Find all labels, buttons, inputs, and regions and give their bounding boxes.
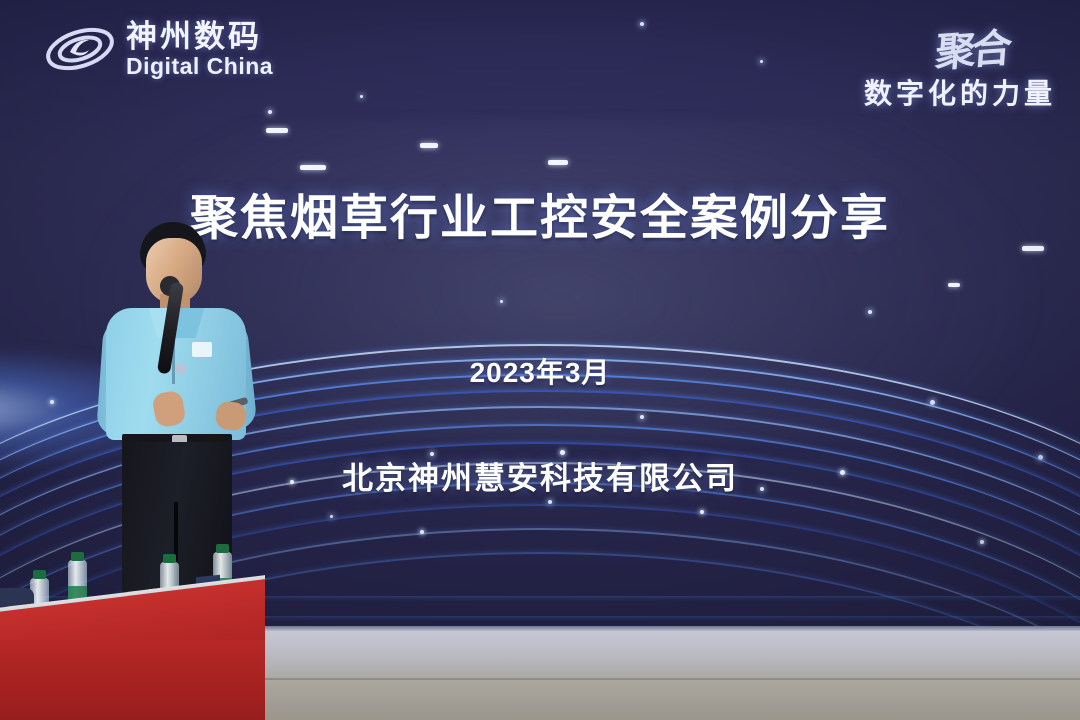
event-slogan: 聚合 数字化的力量 — [864, 18, 1056, 112]
digital-china-swirl-icon — [44, 18, 116, 80]
presentation-photo: 神州数码 Digital China 聚合 数字化的力量 聚焦烟草行业工控安全案… — [0, 0, 1080, 720]
brand-logo: 神州数码 Digital China — [44, 18, 273, 80]
bottle-cap — [163, 554, 176, 563]
speaker-chest-logo-icon — [192, 342, 212, 357]
bottle-cap — [71, 552, 84, 561]
brand-name-cn: 神州数码 — [126, 21, 273, 52]
brand-text: 神州数码 Digital China — [126, 21, 273, 78]
slogan-subtitle-cn: 数字化的力量 — [864, 72, 1056, 112]
bottle-cap — [33, 570, 46, 579]
table-cloth-lower — [0, 640, 265, 720]
slogan-mark-cn: 聚合 — [934, 16, 1011, 79]
microphone-tip — [174, 363, 186, 375]
speaker — [96, 222, 266, 626]
brand-name-en: Digital China — [126, 55, 273, 78]
bottle-cap — [216, 544, 229, 553]
